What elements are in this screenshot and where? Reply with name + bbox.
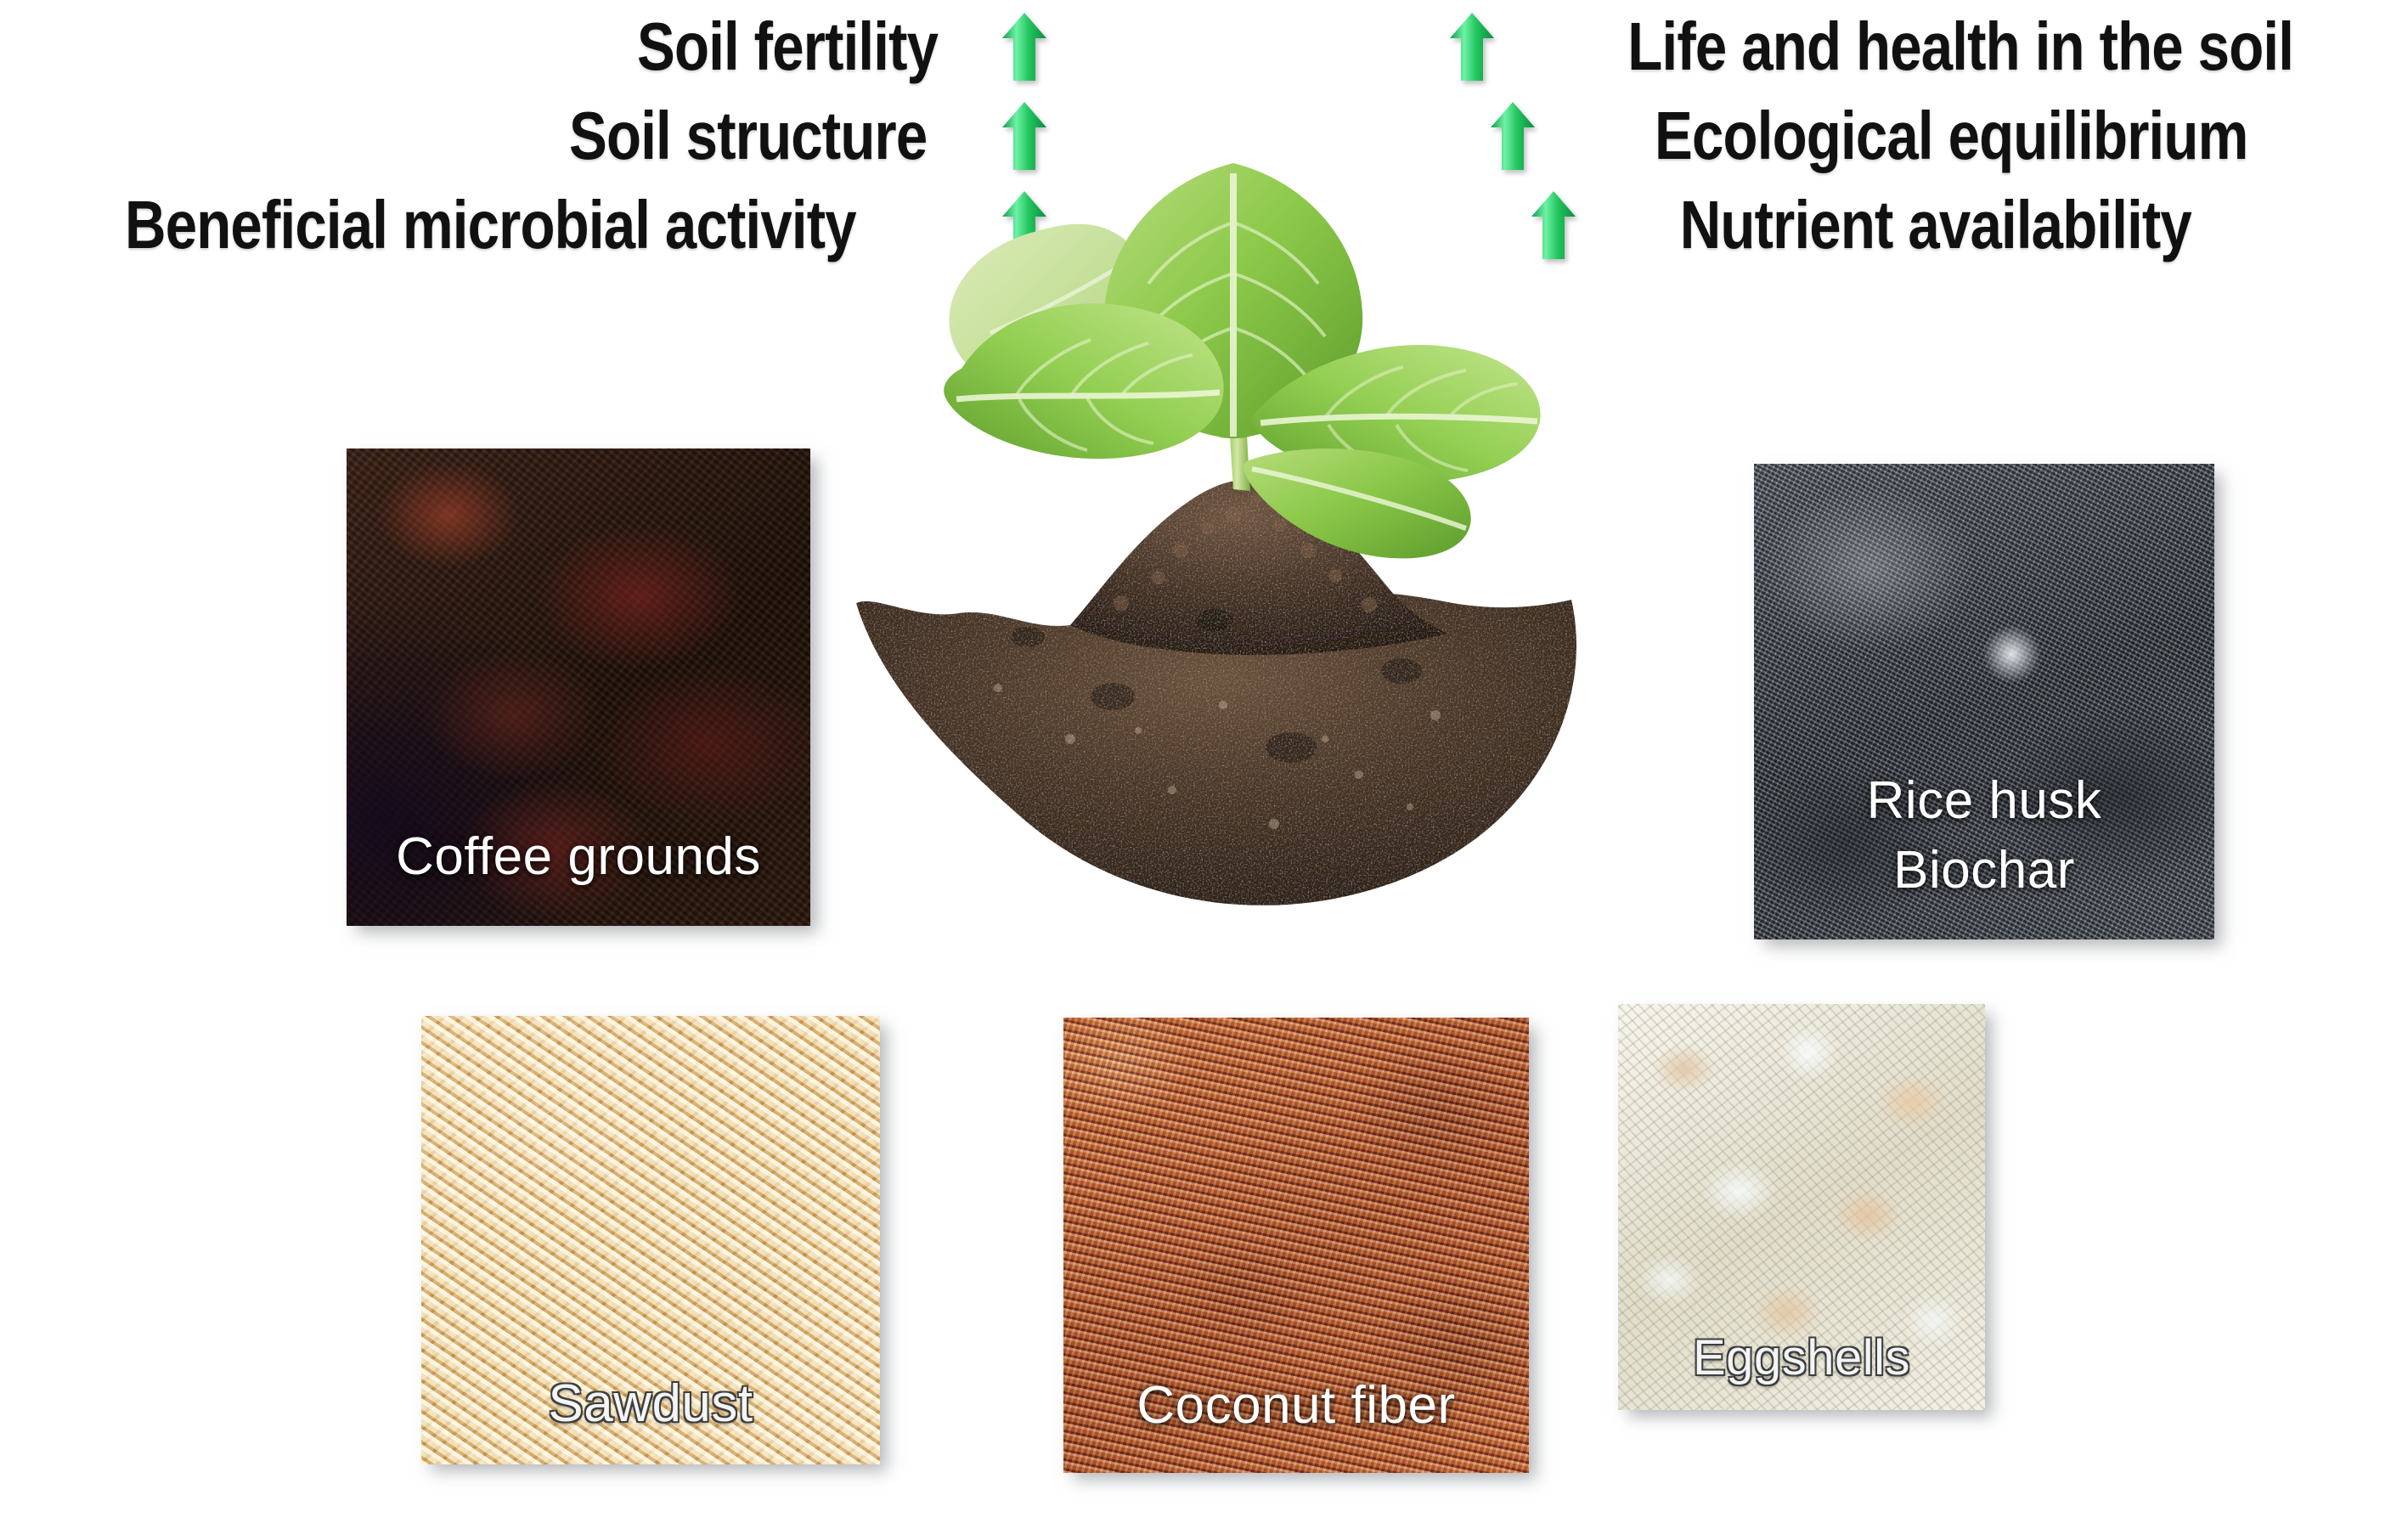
material-card-rice-husk-biochar[interactable]: Rice husk Biochar	[1754, 464, 2214, 939]
material-caption-line1: Rice husk	[1754, 773, 2214, 829]
up-arrow-icon	[1448, 11, 1496, 82]
infographic-canvas: Soil fertility Soil structure	[0, 0, 2408, 1540]
benefit-item-life-and-health: Life and health in the soil	[1443, 2, 2292, 91]
material-caption-line2: Biochar	[1754, 843, 2214, 899]
material-card-sawdust[interactable]: Sawdust	[421, 1016, 880, 1464]
benefit-item-soil-fertility: Soil fertility	[34, 2, 1053, 91]
material-card-eggshells[interactable]: Eggshells	[1618, 1004, 1985, 1410]
soil-mound-icon	[856, 479, 1576, 905]
material-caption: Sawdust	[421, 1376, 880, 1432]
material-caption: Coconut fiber	[1063, 1378, 1529, 1434]
benefit-label: Life and health in the soil	[1627, 8, 2293, 86]
material-card-coconut-fiber[interactable]: Coconut fiber	[1063, 1018, 1529, 1473]
benefit-label: Beneficial microbial activity	[125, 186, 856, 264]
seedling-in-soil-illustration	[815, 144, 1648, 951]
material-card-coffee-grounds[interactable]: Coffee grounds	[347, 448, 810, 926]
material-caption: Eggshells	[1618, 1332, 1985, 1385]
benefit-label: Ecological equilibrium	[1655, 97, 2247, 175]
benefit-label: Nutrient availability	[1680, 186, 2191, 264]
up-arrow-icon	[1001, 11, 1048, 82]
material-caption: Coffee grounds	[347, 829, 810, 885]
benefit-label: Soil fertility	[637, 8, 938, 86]
